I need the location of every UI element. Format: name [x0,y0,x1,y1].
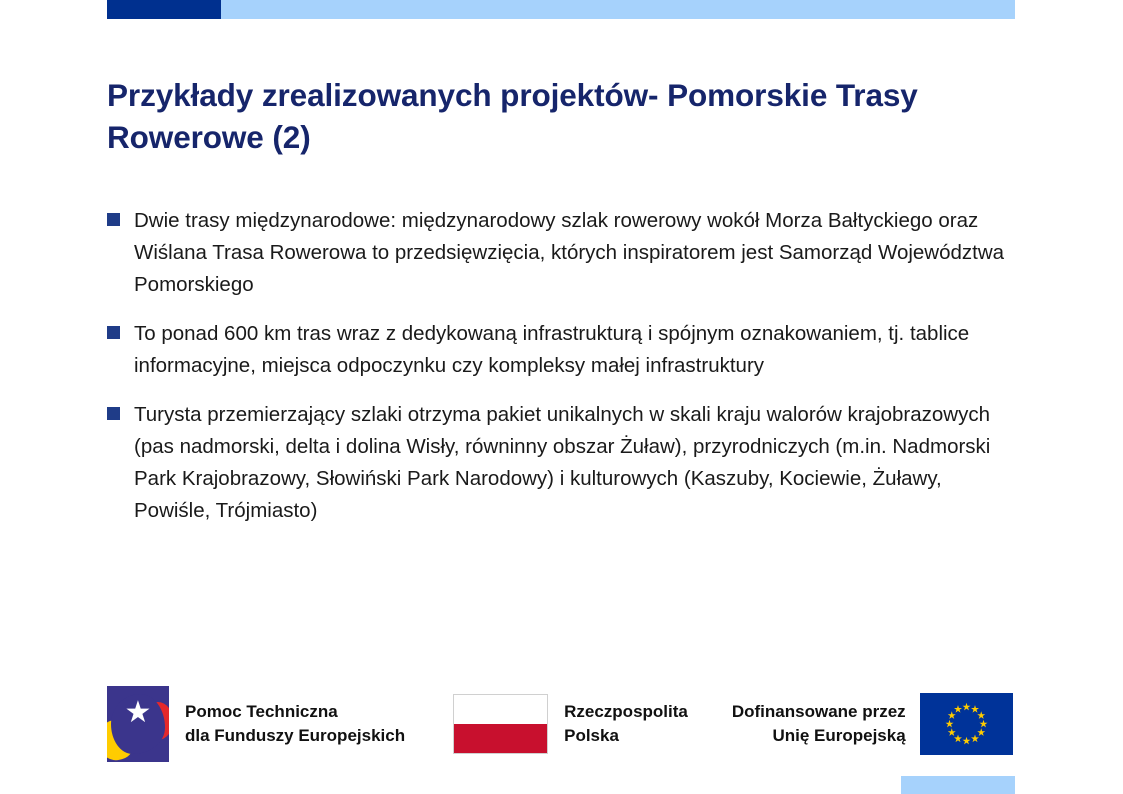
square-bullet-icon [107,407,120,420]
bullet-text: To ponad 600 km tras wraz z dedykowaną i… [134,318,1017,382]
european-union-logo-text: Dofinansowane przez Unię Europejską [732,700,906,748]
square-bullet-icon [107,326,120,339]
poland-flag-icon [453,694,548,754]
european-union-logo: Dofinansowane przez Unię Europejską [732,693,1013,755]
bullet-item: Dwie trasy międzynarodowe: międzynarodow… [107,205,1017,301]
poland-logo-text: Rzeczpospolita Polska [564,700,688,748]
bullet-item: Turysta przemierzający szlaki otrzyma pa… [107,399,1017,527]
eu-funds-logo-text: Pomoc Techniczna dla Funduszy Europejski… [185,700,405,748]
bullet-text: Dwie trasy międzynarodowe: międzynarodow… [134,205,1017,301]
bullet-item: To ponad 600 km tras wraz z dedykowaną i… [107,318,1017,382]
european-union-flag-icon [920,693,1013,755]
eu-funds-emblem-icon: ★ [107,686,169,762]
top-accent-light-segment [221,0,1015,19]
poland-logo: Rzeczpospolita Polska [453,694,688,754]
eu-stars-icon [920,693,1013,755]
bottom-accent-bar [901,776,1015,794]
bullet-text: Turysta przemierzający szlaki otrzyma pa… [134,399,1017,527]
footer-logo-strip: ★ Pomoc Techniczna dla Funduszy Europejs… [107,683,1015,765]
top-accent-bar [107,0,1015,19]
slide-body: Dwie trasy międzynarodowe: międzynarodow… [107,205,1017,544]
slide-title: Przykłady zrealizowanych projektów- Pomo… [107,75,1007,158]
eu-funds-logo: ★ Pomoc Techniczna dla Funduszy Europejs… [107,686,405,762]
square-bullet-icon [107,213,120,226]
top-accent-dark-segment [107,0,221,19]
funds-star-icon: ★ [123,698,153,728]
